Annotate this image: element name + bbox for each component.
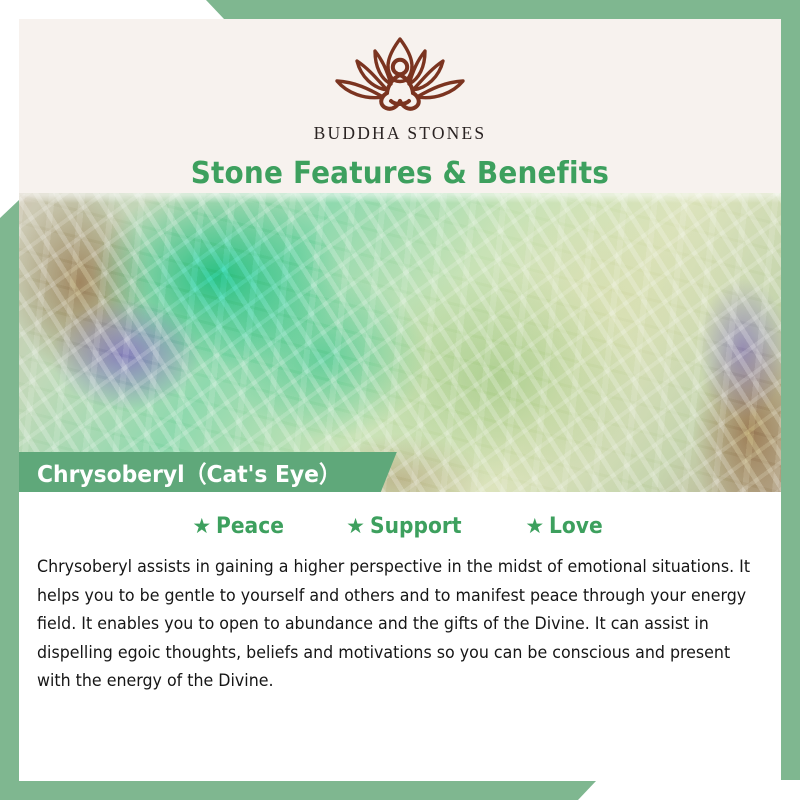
- frame-top-band: [0, 0, 800, 19]
- lotus-meditation-icon: [325, 31, 475, 117]
- description-text: Chrysoberyl assists in gaining a higher …: [37, 553, 760, 696]
- benefits-list: ★ Peace ★ Support ★ Love: [19, 492, 781, 547]
- star-icon: ★: [346, 516, 365, 537]
- benefit-label: Love: [549, 514, 603, 539]
- stone-name-banner: Chrysoberyl（Cat's Eye）: [19, 452, 397, 492]
- star-icon: ★: [525, 516, 544, 537]
- frame-right-band: [781, 0, 800, 780]
- benefit-label: Support: [370, 514, 462, 539]
- benefit-label: Peace: [216, 514, 284, 539]
- stone-photo: Chrysoberyl（Cat's Eye）: [19, 193, 781, 492]
- stone-info-card: BUDDHA STONES Stone Features & Benefits …: [0, 0, 800, 800]
- brand-name: BUDDHA STONES: [314, 123, 487, 144]
- frame-left-band: [0, 200, 19, 800]
- card-panel: BUDDHA STONES Stone Features & Benefits …: [19, 19, 781, 781]
- page-title: Stone Features & Benefits: [19, 156, 781, 191]
- benefit-item-love: ★ Love: [525, 514, 607, 539]
- benefit-item-support: ★ Support: [346, 514, 469, 539]
- benefit-item-peace: ★ Peace: [192, 514, 290, 539]
- card-header: BUDDHA STONES Stone Features & Benefits: [19, 19, 781, 193]
- description-block: Chrysoberyl assists in gaining a higher …: [19, 547, 781, 696]
- stone-photo-edge: [19, 193, 781, 492]
- frame-bottom-band: [0, 781, 800, 800]
- star-icon: ★: [192, 516, 211, 537]
- page-title-text: Stone Features & Benefits: [191, 156, 609, 191]
- stone-name-text: Chrysoberyl（Cat's Eye）: [37, 455, 341, 489]
- brand-logo: BUDDHA STONES: [314, 31, 487, 144]
